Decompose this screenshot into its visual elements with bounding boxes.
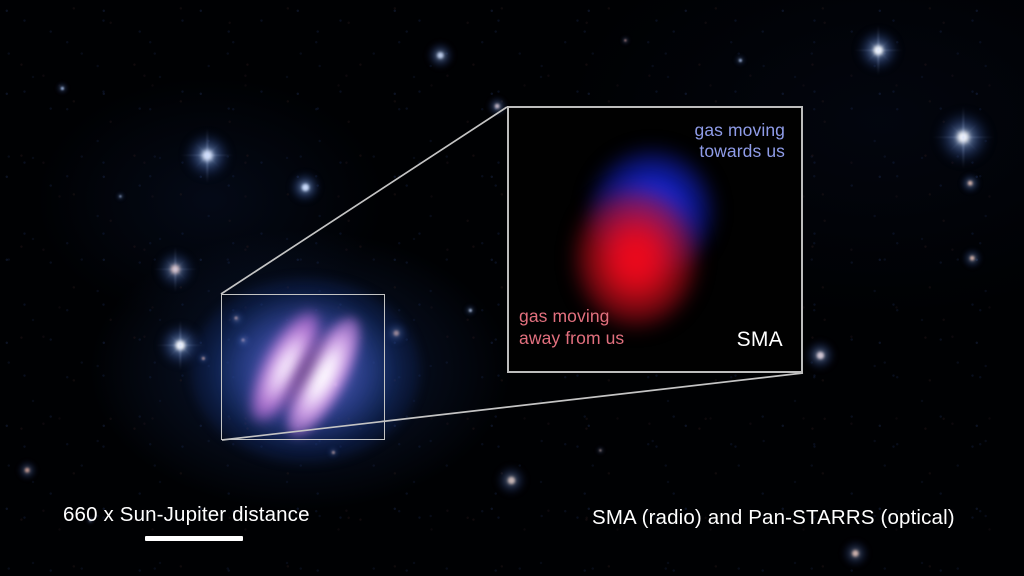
sma-inset-panel: gas moving towards us gas moving away fr… xyxy=(507,106,803,373)
scale-bar xyxy=(145,536,243,541)
blueshifted-gas-label: gas moving towards us xyxy=(695,120,786,163)
sky-image: gas moving towards us gas moving away fr… xyxy=(0,0,1024,576)
source-region-box xyxy=(221,294,385,440)
scale-caption: 660 x Sun-Jupiter distance xyxy=(63,503,310,527)
redshifted-gas-label: gas moving away from us xyxy=(519,306,624,349)
instrument-credit-caption: SMA (radio) and Pan-STARRS (optical) xyxy=(592,506,955,530)
instrument-label-sma: SMA xyxy=(737,327,783,353)
